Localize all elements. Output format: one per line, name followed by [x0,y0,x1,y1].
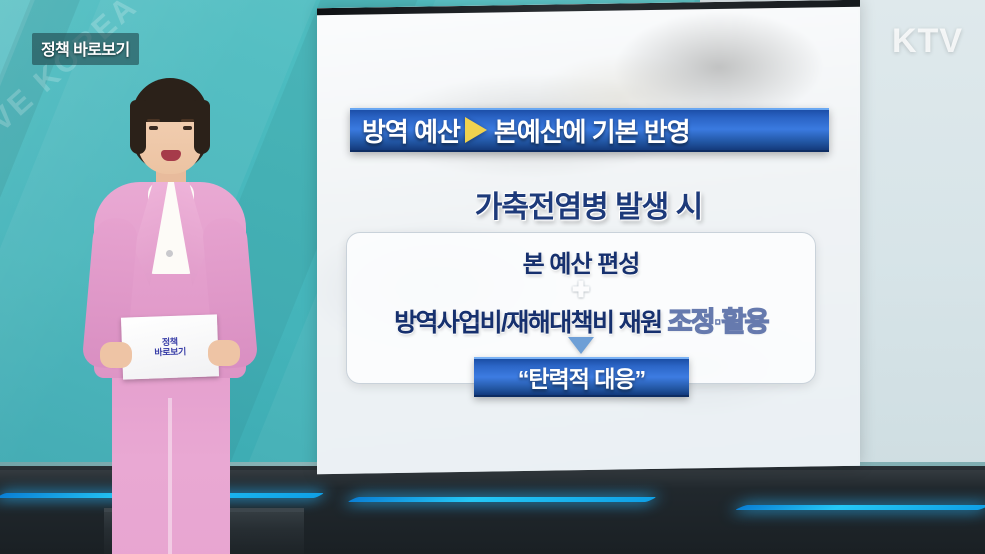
graphic-panel: 방역 예산 본예산에 기본 반영 가축전염병 발생 시 본 예산 편성 ✚ 방역… [317,0,860,474]
anchor-cue-card-text: 정책 바로보기 [154,336,186,358]
anchor-eyebrow-left [147,119,160,122]
graphic-headline: 가축전염병 발생 시 [317,182,860,226]
anchor-hand-left [100,342,132,368]
triangle-down-icon [346,337,816,354]
anchor-cue-card: 정책 바로보기 [121,314,219,379]
floor-led-strip [734,505,985,510]
anchor-hand-right [208,340,240,366]
anchor-hair-side-left [130,100,146,154]
graphic-title-bar: 방역 예산 본예산에 기본 반영 [350,108,829,152]
graphic-title-secondary: 본예산에 기본 반영 [494,112,690,149]
program-title-badge: 정책 바로보기 [32,33,139,65]
graphic-box-line-2-highlight: 조정·활용 [668,300,768,339]
graphic-title-primary: 방역 예산 [362,112,460,149]
anchor-eye-right [183,126,192,130]
graphic-box-line-1: 본 예산 편성 [346,244,816,279]
floor-led-strip [347,497,657,502]
graphic-box-line-2-row: 방역사업비/재해대책비 재원 조정·활용 [346,300,816,339]
graphic-conclusion-banner: “탄력적 대응” [474,357,689,397]
anchor-eyebrow-right [181,119,194,122]
plus-icon: ✚ [346,279,816,301]
cue-card-line-1: 정책 [162,336,178,347]
anchor-trouser-seam [168,398,172,554]
graphic-conclusion-text: “탄력적 대응” [518,360,645,394]
anchor-mouth [161,150,181,161]
anchor-eye-left [149,126,158,130]
network-logo: KTV [892,22,963,61]
cue-card-line-2: 바로보기 [154,346,186,357]
anchor-hair-side-right [194,100,210,154]
graphic-box-line-2: 방역사업비/재해대책비 재원 [394,303,662,339]
graphic-content: 방역 예산 본예산에 기본 반영 가축전염병 발생 시 본 예산 편성 ✚ 방역… [317,4,860,470]
news-anchor: 정책 바로보기 [86,78,256,530]
lapel-microphone-icon [166,250,173,257]
triangle-right-icon [465,117,487,143]
broadcast-screen: LIVE KOREA LIVE KOREA LIVE KOREA [0,0,985,554]
